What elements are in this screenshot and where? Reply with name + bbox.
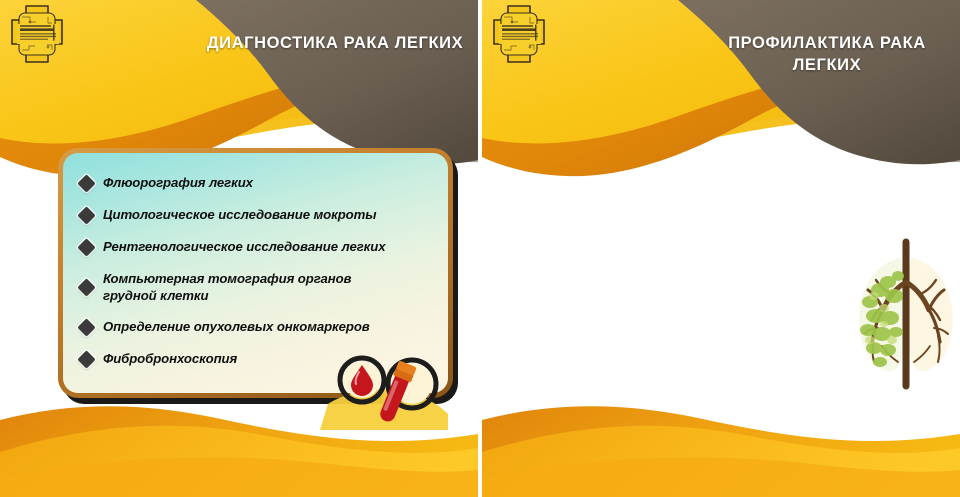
- list-item[interactable]: Компьютерная томография органов грудной …: [63, 271, 448, 305]
- blood-test-tube-icon: [320, 352, 448, 430]
- diamond-bullet-icon: [77, 238, 95, 256]
- diamond-bullet-icon: [77, 206, 95, 224]
- diamond-bullet-icon: [77, 174, 95, 192]
- diamond-bullet-icon: [77, 351, 95, 369]
- cross-logo-icon: [490, 4, 548, 66]
- poster-root: ДИАГНОСТИКА РАКА ЛЕГКИХ Флюорография лег…: [0, 0, 960, 497]
- diamond-bullet-icon: [77, 278, 95, 296]
- list-item[interactable]: Флюорография легких: [63, 175, 448, 192]
- page-title: ПРОФИЛАКТИКА РАКА ЛЕГКИХ: [697, 32, 957, 76]
- cross-logo-icon: [8, 4, 66, 66]
- list-item[interactable]: Цитологическое исследование мокроты: [63, 207, 448, 224]
- panel-prevention: ПРОФИЛАКТИКА РАКА ЛЕГКИХ: [482, 0, 960, 497]
- diamond-bullet-icon: [77, 319, 95, 337]
- center-public-health-logo: [490, 4, 548, 66]
- panel-diagnostics: ДИАГНОСТИКА РАКА ЛЕГКИХ Флюорография лег…: [0, 0, 478, 497]
- list-item[interactable]: Рентгенологическое исследование легких: [63, 239, 448, 256]
- center-public-health-logo: [8, 4, 66, 66]
- page-title: ДИАГНОСТИКА РАКА ЛЕГКИХ: [205, 32, 465, 54]
- lungs-tree-icon: [850, 236, 960, 396]
- list-item[interactable]: Определение опухолевых онкомаркеров: [63, 319, 448, 336]
